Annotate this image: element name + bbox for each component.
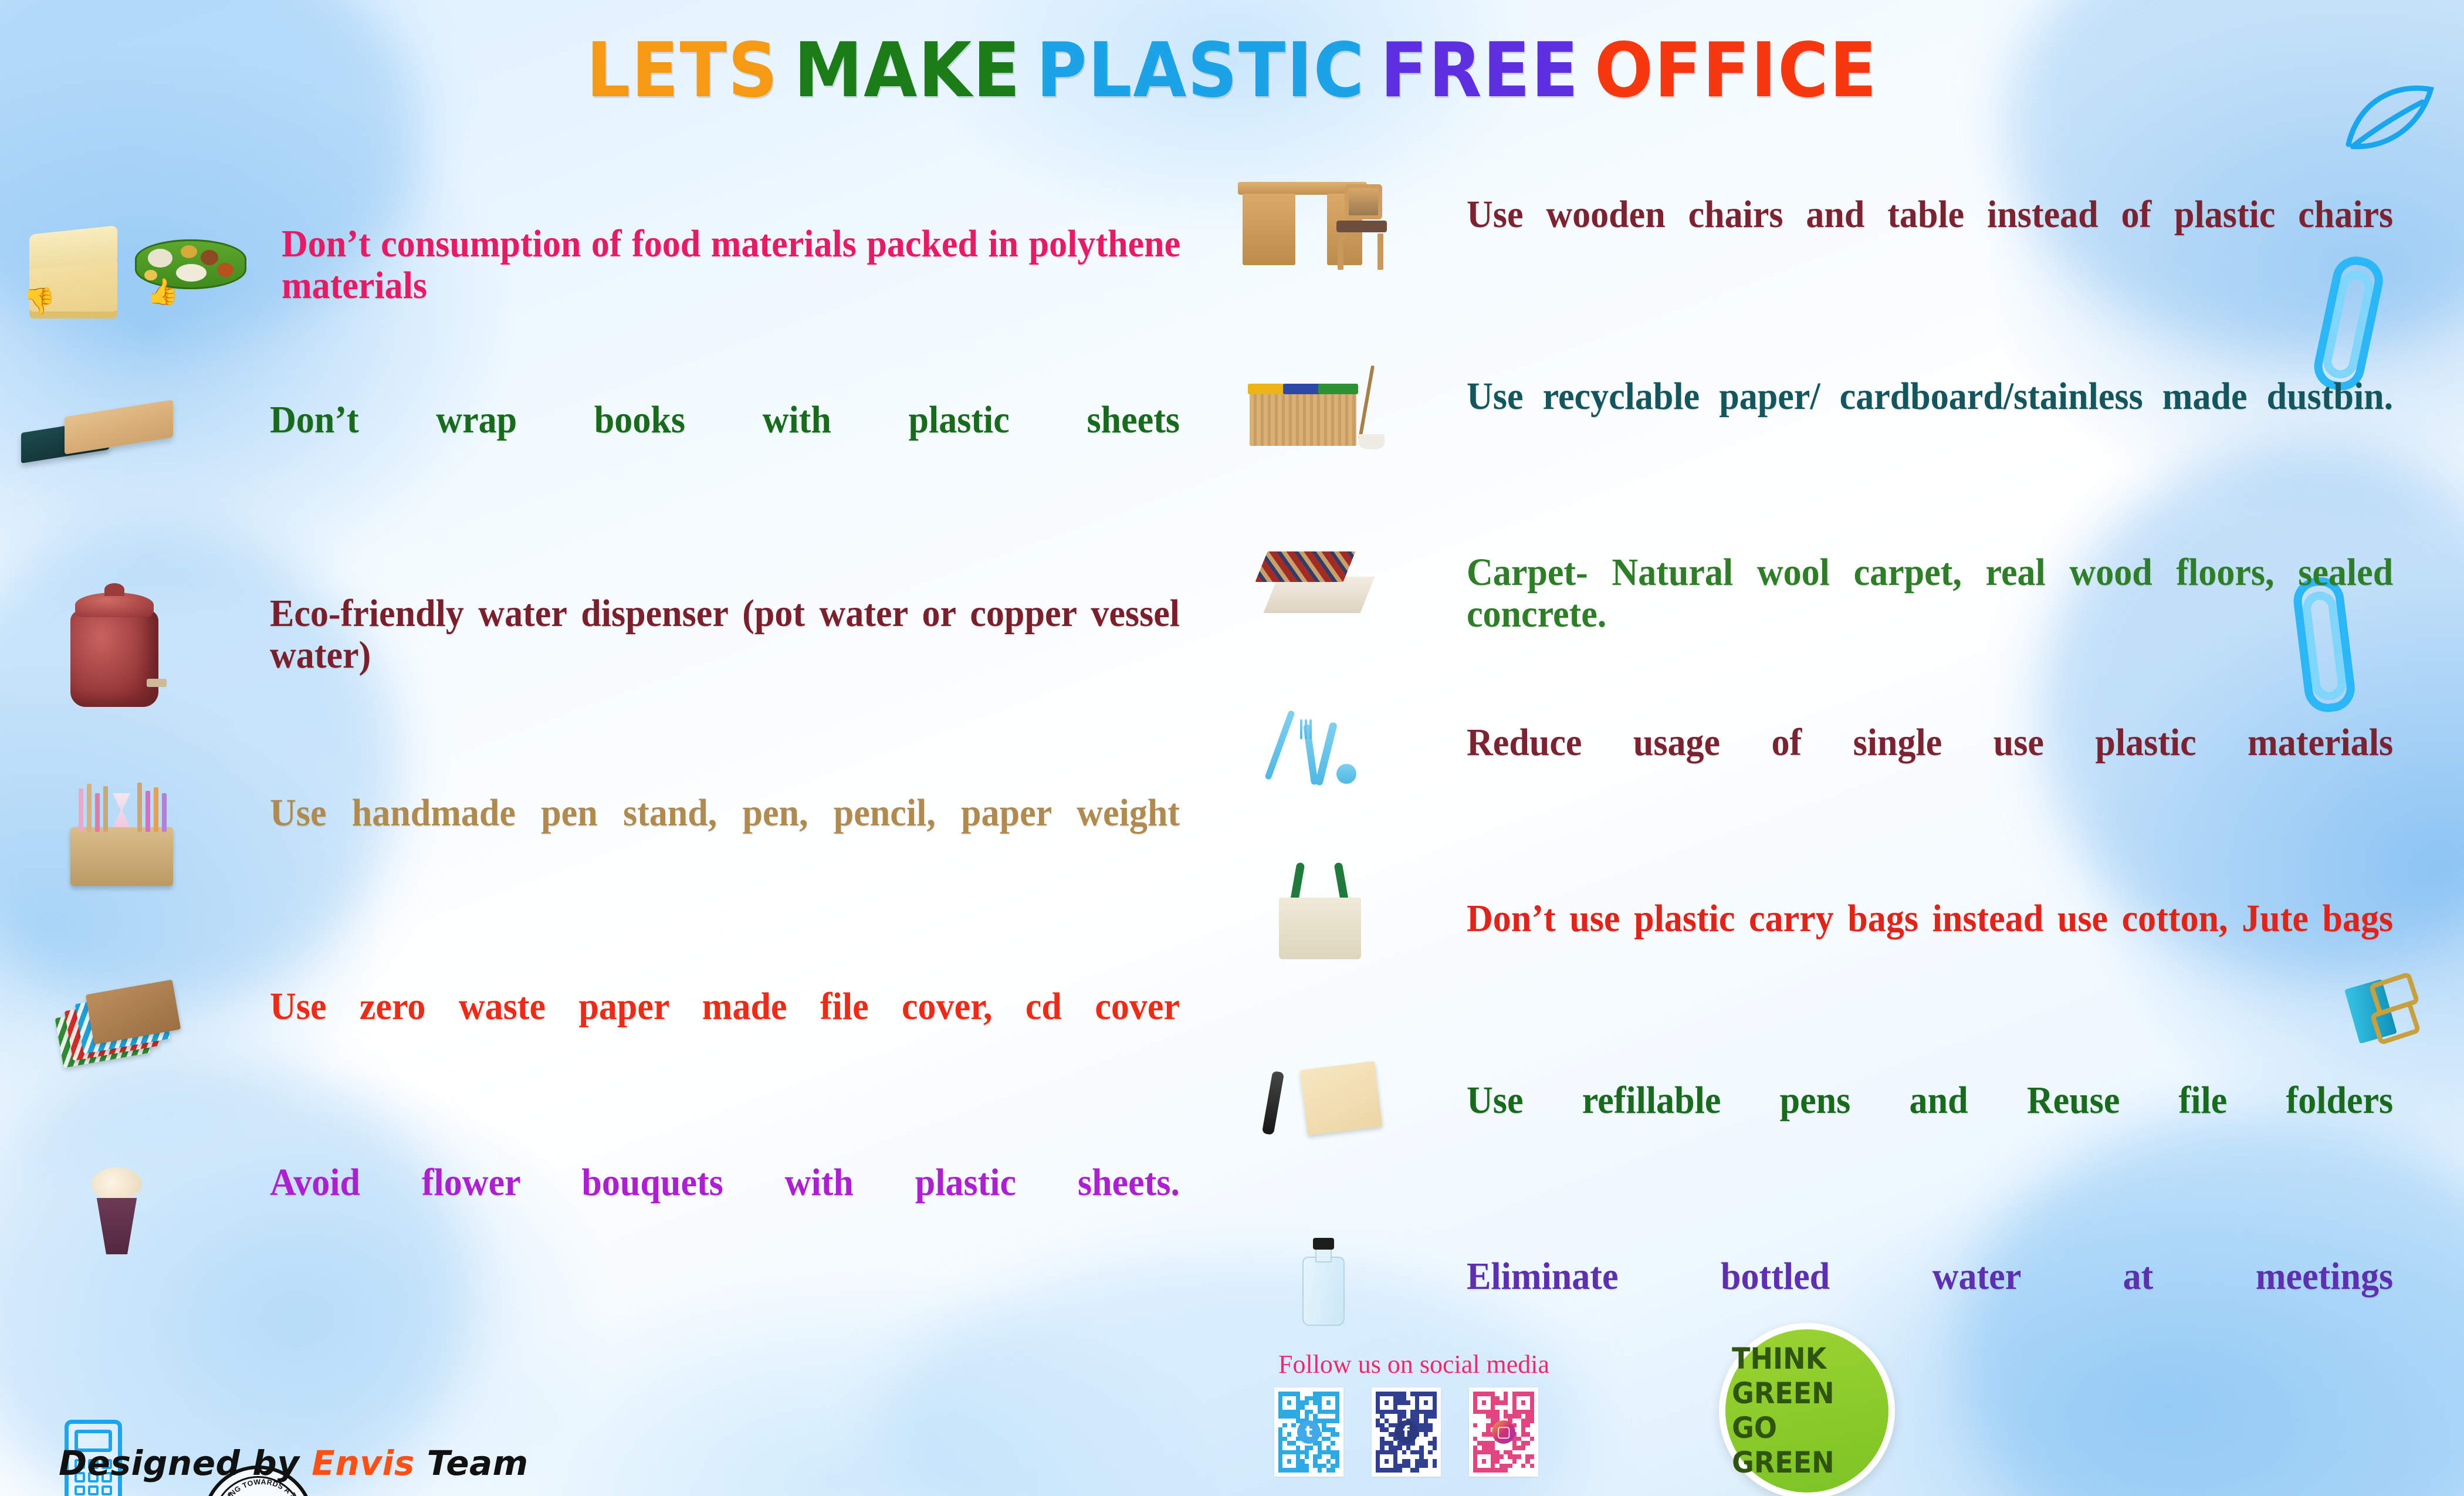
tip-book-wrapping: Don’t wrap books with plastic sheets <box>270 399 1238 483</box>
title-word-free: FREE <box>1373 27 1587 114</box>
facebook-qr-code[interactable]: f <box>1372 1387 1441 1477</box>
designed-accent: Envis <box>312 1443 415 1483</box>
tip-wooden-furniture: Use wooden chairs and table instead of p… <box>1467 194 2452 277</box>
think-green-line2: GO GREEN <box>1732 1411 1882 1480</box>
tip-bottled-water: Eliminate bottled water at meetings <box>1467 1255 2452 1339</box>
tip-water-dispenser: Eco-friendly water dispenser (pot water … <box>270 593 1238 718</box>
thumbs-up-icon: 👍 <box>147 279 179 305</box>
title-word-plastic: PLASTIC <box>1028 27 1373 114</box>
leaf-pen-icon <box>2338 70 2443 176</box>
tip-pen-stand: Use handmade pen stand, pen, pencil, pap… <box>270 792 1238 876</box>
tip-file-cover: Use zero waste paper made file cover, cd… <box>270 986 1238 1069</box>
designed-prefix: Designed by <box>59 1443 300 1483</box>
twitter-icon: t <box>1297 1420 1321 1444</box>
poster-canvas: LETSMAKEPLASTICFREEOFFICE Don’t consumpt… <box>0 0 2464 1496</box>
social-media-block: Follow us on social media t f ▢ <box>1250 1349 1613 1477</box>
bg-wash <box>2042 446 2464 974</box>
art-segregation-dustbins <box>1244 352 1467 469</box>
title-word-lets: LETS <box>579 27 787 114</box>
think-green-badge: THINK GREEN GO GREEN <box>1719 1323 1895 1496</box>
art-single-use-plastic-cutlery <box>1255 692 1455 827</box>
tip-carpet: Carpet- Natural wool carpet, real wood f… <box>1467 551 2452 677</box>
designed-suffix: Team <box>427 1443 529 1483</box>
qr-code-row: t f ▢ <box>1274 1387 1613 1477</box>
instagram-icon: ▢ <box>1492 1420 1515 1444</box>
page-title: LETSMAKEPLASTICFREEOFFICE <box>99 27 2365 114</box>
art-clay-pot-dispenser <box>47 581 223 733</box>
art-food-containers: 👎 👍 <box>23 223 270 340</box>
art-handmade-file-covers <box>47 968 241 1085</box>
tip-flower-bouquet: Avoid flower bouquets with plastic sheet… <box>270 1162 1238 1245</box>
thumbs-down-icon: 👎 <box>23 289 56 314</box>
binder-clip-icon <box>2341 974 2429 1050</box>
tip-recyclable-dustbin: Use recyclable paper/ cardboard/stainles… <box>1467 375 2452 459</box>
twitter-qr-code[interactable]: t <box>1274 1387 1343 1477</box>
art-cotton-tote-bag <box>1261 851 1461 991</box>
art-plastic-water-bottle <box>1279 1226 1431 1349</box>
art-wrapped-book <box>18 395 264 483</box>
designed-by-credit: Designed by Envis Team <box>59 1443 529 1483</box>
think-green-line1: THINK GREEN <box>1732 1342 1882 1411</box>
tip-refillable-pens: Use refillable pens and Reuse file folde… <box>1467 1079 2452 1163</box>
instagram-qr-code[interactable]: ▢ <box>1469 1387 1538 1477</box>
art-wooden-pen-stand <box>47 763 235 898</box>
social-heading: Follow us on social media <box>1250 1349 1578 1379</box>
tip-food-packaging: Don’t consumption of food materials pack… <box>282 223 1238 348</box>
art-wooden-desk-and-chair <box>1232 164 1467 299</box>
art-flower-bouquet <box>65 1150 205 1273</box>
art-refill-pen-and-folders <box>1250 1044 1461 1173</box>
title-word-make: MAKE <box>786 27 1028 114</box>
art-wool-carpet <box>1250 534 1461 639</box>
tip-carry-bags: Don’t use plastic carry bags instead use… <box>1467 898 2452 981</box>
facebook-icon: f <box>1395 1420 1418 1444</box>
tip-single-use-plastic: Reduce usage of single use plastic mater… <box>1467 722 2452 805</box>
title-word-office: OFFICE <box>1587 27 1885 114</box>
